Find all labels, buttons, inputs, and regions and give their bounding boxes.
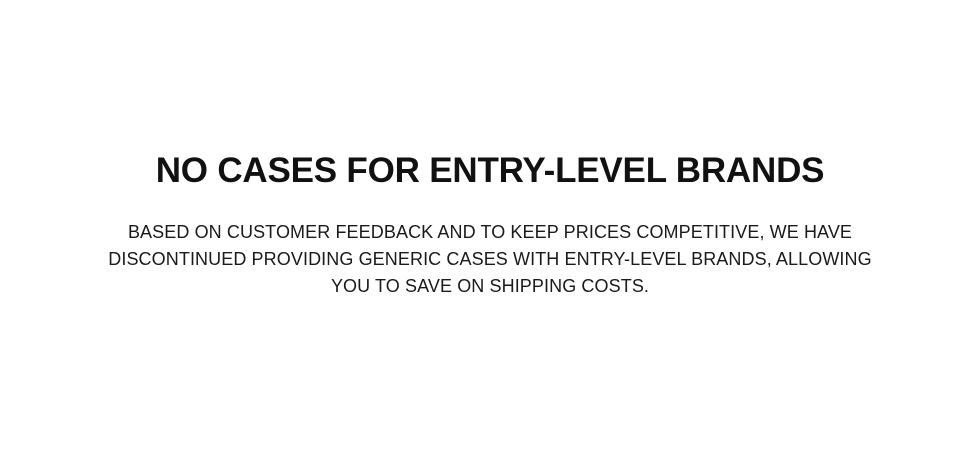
notice-description: BASED ON CUSTOMER FEEDBACK AND TO KEEP P… [90, 190, 890, 300]
page-title: NO CASES FOR ENTRY-LEVEL BRANDS [40, 0, 940, 190]
notice-content: NO CASES FOR ENTRY-LEVEL BRANDS BASED ON… [0, 0, 980, 300]
notice-section: NO CASES FOR ENTRY-LEVEL BRANDS BASED ON… [0, 0, 980, 450]
